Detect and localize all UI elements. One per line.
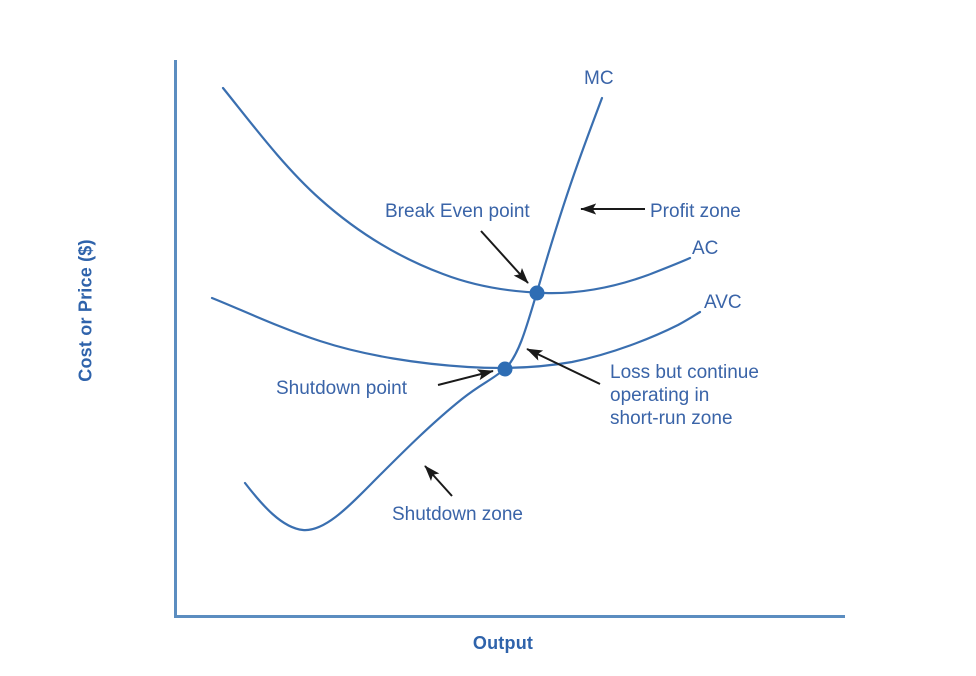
profit-zone-label: Profit zone [650,200,741,223]
y-axis-label: Cost or Price ($) [76,211,97,411]
plot-area [0,0,976,676]
loss-zone-label-line-2: operating in [610,384,759,407]
shutdown-point-dot [498,362,513,377]
ac-curve-label: AC [692,238,718,260]
avc-curve [212,298,700,368]
break-even-point-label: Break Even point [385,200,530,223]
mc-curve-label: MC [584,68,614,90]
loss-zone-label-line-1: Loss but continue [610,361,759,384]
loss-zone-label-line-3: short-run zone [610,407,759,430]
loss-zone-label: Loss but continue operating in short-run… [610,361,759,430]
ac-curve [223,88,690,293]
shutdown-zone-label: Shutdown zone [392,503,523,526]
break-even-point-dot [530,286,545,301]
intersection-points [498,286,545,377]
shutdown-zone-arrow [425,466,452,496]
x-axis-label: Output [410,633,596,654]
avc-curve-label: AVC [704,292,742,314]
break-even-arrow [481,231,528,283]
mc-curve [245,98,602,530]
shutdown-point-label: Shutdown point [276,377,407,400]
economics-cost-curves-figure: Cost or Price ($) Output MC AC AVC Break… [0,0,976,676]
axes [174,60,845,618]
